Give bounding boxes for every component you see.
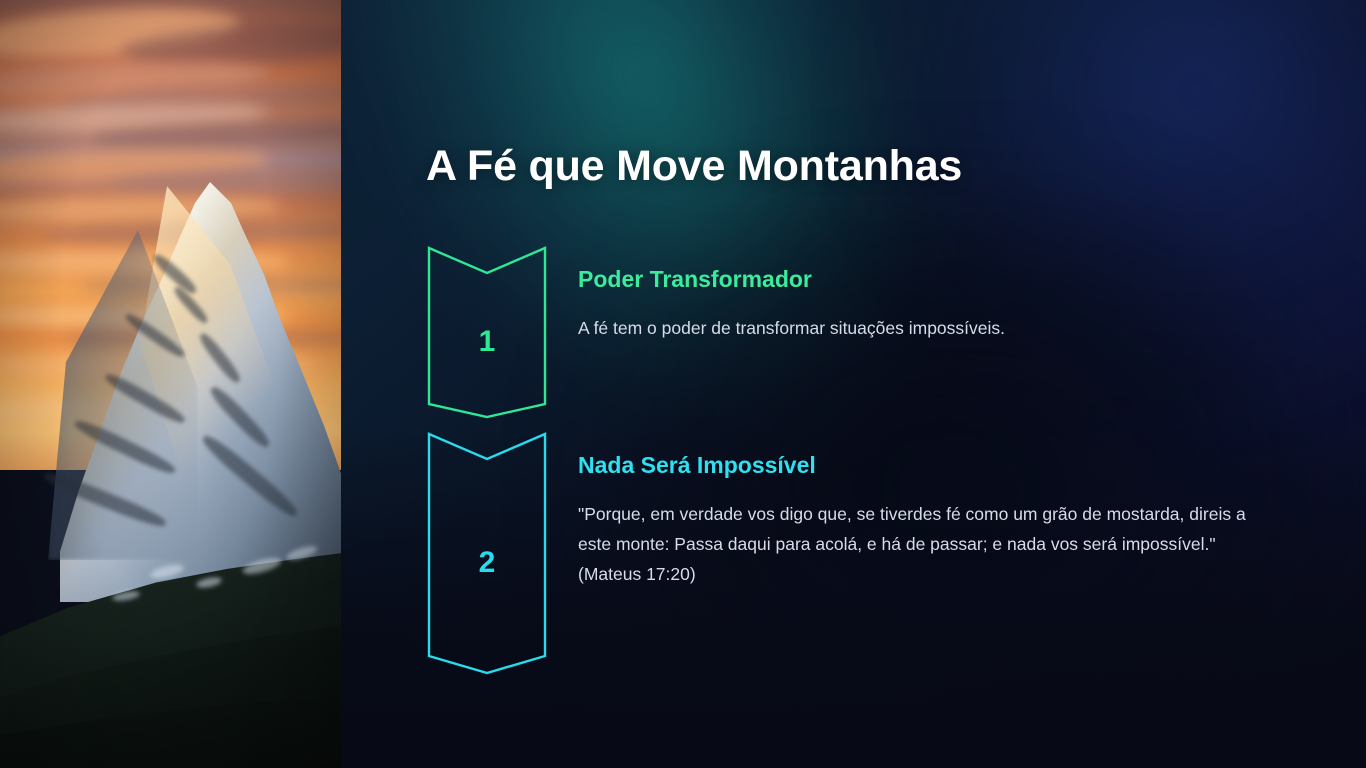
number-badge-2: 2	[427, 432, 547, 675]
photo-vignette	[0, 0, 341, 768]
number-badge-1: 1	[427, 246, 547, 419]
content-panel: A Fé que Move Montanhas 1 Poder Transfor…	[341, 0, 1366, 768]
page-title: A Fé que Move Montanhas	[426, 142, 962, 191]
list-item: 2 Nada Será Impossível "Porque, em verda…	[427, 432, 1267, 675]
content-area: A Fé que Move Montanhas 1 Poder Transfor…	[341, 0, 1366, 768]
item-heading: Poder Transformador	[578, 266, 1005, 294]
presentation-slide: A Fé que Move Montanhas 1 Poder Transfor…	[0, 0, 1366, 768]
item-body: Poder Transformador A fé tem o poder de …	[547, 246, 1005, 343]
badge-number: 2	[427, 548, 547, 578]
item-description: "Porque, em verdade vos digo que, se tiv…	[578, 499, 1267, 589]
badge-number: 1	[427, 327, 547, 357]
item-body: Nada Será Impossível "Porque, em verdade…	[547, 432, 1267, 589]
list-item: 1 Poder Transformador A fé tem o poder d…	[427, 246, 1005, 419]
mountain-photo	[0, 0, 341, 768]
item-description: A fé tem o poder de transformar situaçõe…	[578, 313, 1005, 343]
item-heading: Nada Será Impossível	[578, 452, 1267, 480]
